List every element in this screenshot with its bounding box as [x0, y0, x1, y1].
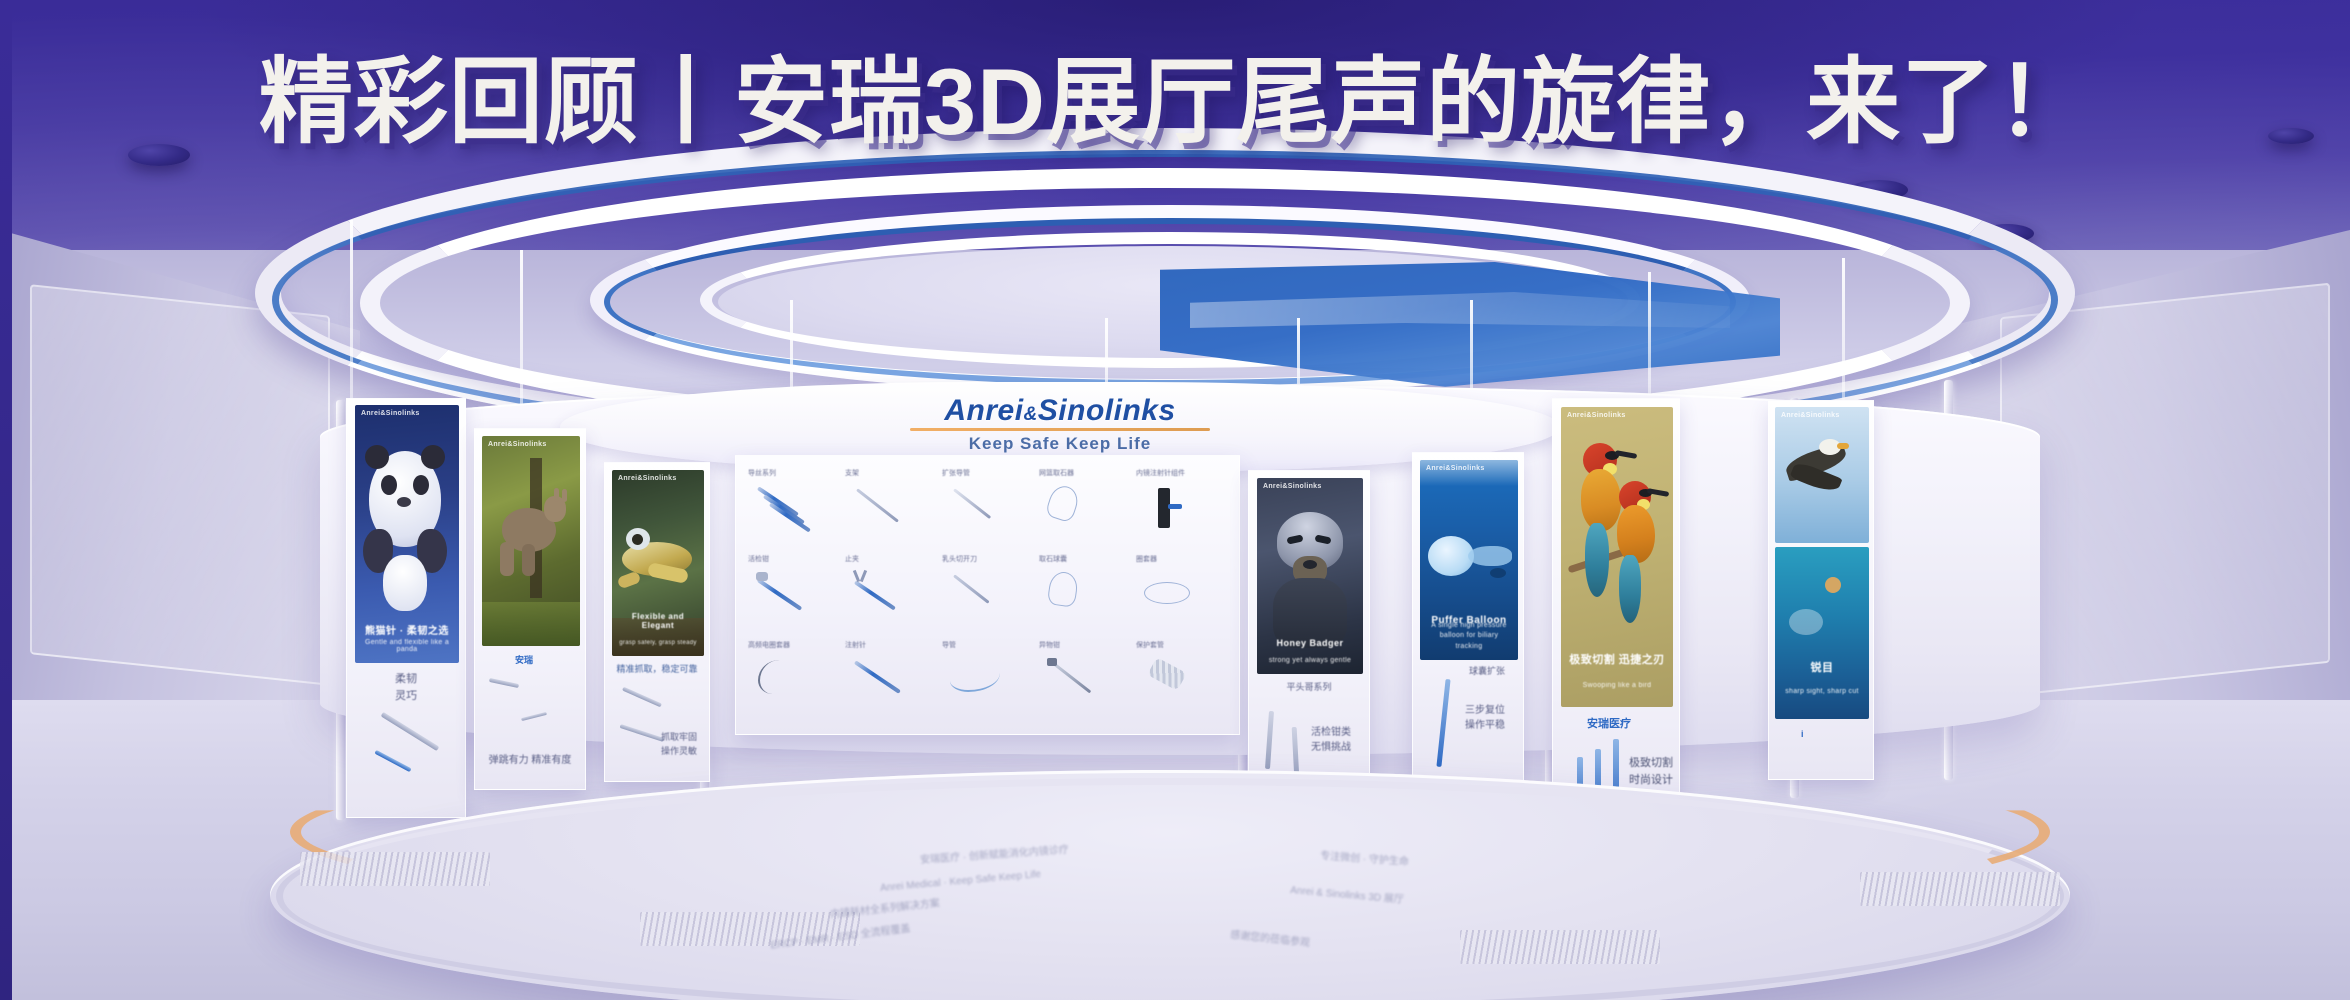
retrieval-balloon-icon: [1045, 568, 1128, 636]
page-title: 精彩回顾丨安瑞3D展厅尾声的旋律，来了！: [0, 26, 2350, 162]
poster-panel-frog[interactable]: Anrei&Sinolinks Flexible and Elegant gra…: [604, 462, 710, 782]
product-cell[interactable]: 止夹: [843, 554, 938, 638]
dilation-catheter-icon: [948, 482, 1031, 550]
platform-grate: [1460, 930, 1660, 964]
poster-honey-badger-image: Anrei&Sinolinks Honey Badger strong yet …: [1257, 478, 1363, 674]
product-label: 活检钳: [748, 554, 769, 564]
poster-panel-puffer[interactable]: Anrei&Sinolinks Puffer Balloon A single …: [1412, 452, 1524, 782]
sheath-icon: [1142, 654, 1225, 722]
panel-caption-secondary: 活检钳类 无惧挑战: [1311, 725, 1365, 755]
product-grid: 导丝系列 支架 扩张导管 网篮取石器 内镜注射针组件 活检钳 止夹 乳头切开刀 …: [746, 468, 1229, 724]
ceiling-spotlight: [1850, 180, 1908, 200]
poster-headline: Honey Badger: [1263, 638, 1357, 648]
poster-brand-stamp: Anrei&Sinolinks: [1567, 412, 1626, 419]
exhibition-hall-banner: Anrei&Sinolinks Keep Safe Keep Life Anre…: [0, 0, 2350, 1000]
panel-brand-mark: 安瑞医疗: [1587, 715, 1631, 731]
product-cell[interactable]: 保护套管: [1134, 640, 1229, 724]
product-cell[interactable]: 导丝系列: [746, 468, 841, 552]
catheter-icon: [948, 654, 1031, 722]
instrument-illustration: [381, 712, 440, 751]
poster-panda-image: Anrei&Sinolinks 熊猫针 · 柔韧之选 Gentle and fl…: [355, 405, 459, 663]
instrument-illustration: [622, 687, 662, 708]
poster-subtitle: A single high pressure balloon for bilia…: [1426, 621, 1512, 653]
panel-caption-secondary: 抓取牢固 操作灵敏: [661, 731, 705, 758]
product-cell[interactable]: 乳头切开刀: [940, 554, 1035, 638]
brand-ampersand: &: [1024, 404, 1038, 425]
product-label: 保护套管: [1136, 640, 1164, 650]
panel-brand-mark: 安瑞: [515, 653, 533, 666]
platform-grate: [1860, 872, 2060, 906]
panel-caption: 弹跳有力 精准有度: [481, 753, 579, 768]
hemostasis-clip-icon: [851, 568, 934, 636]
hanging-rod: [350, 220, 353, 420]
poster-headline: 熊猫针 · 柔韧之选: [361, 622, 453, 637]
poster-panel-bee-eater[interactable]: Anrei&Sinolinks 极致切割 迅捷之刃 Swooping like …: [1552, 398, 1680, 826]
product-label: 内镜注射针组件: [1136, 468, 1185, 478]
panel-caption: 极致切割 时尚设计: [1629, 755, 1675, 788]
brand-name-anrei: Anrei: [944, 394, 1023, 427]
stent-icon: [851, 482, 934, 550]
product-label: 圈套器: [1136, 554, 1157, 564]
needle-icon: [851, 654, 934, 722]
product-cell[interactable]: 网篮取石器: [1037, 468, 1132, 552]
ceiling-spotlight: [1980, 224, 2034, 243]
poster-brand-stamp: Anrei&Sinolinks: [618, 475, 677, 482]
product-label: 高频电圈套器: [748, 640, 790, 650]
panel-caption: 球囊扩张: [1469, 665, 1519, 679]
product-cell[interactable]: 取石球囊: [1037, 554, 1132, 638]
product-label: 支架: [845, 468, 859, 478]
brand-tagline: Keep Safe Keep Life: [560, 434, 1560, 454]
sphincterotome-icon: [948, 568, 1031, 636]
poster-brand-stamp: Anrei&Sinolinks: [1263, 483, 1322, 490]
panel-caption-secondary: 三步复位 操作平稳: [1465, 703, 1519, 733]
product-cell[interactable]: 注射针: [843, 640, 938, 724]
poster-brand-stamp: Anrei&Sinolinks: [1426, 465, 1485, 472]
product-cell[interactable]: 圈套器: [1134, 554, 1229, 638]
poster-panel-panda[interactable]: Anrei&Sinolinks 熊猫针 · 柔韧之选 Gentle and fl…: [346, 398, 466, 818]
poster-puffer-image: Anrei&Sinolinks Puffer Balloon A single …: [1420, 460, 1518, 660]
poster-subtitle: sharp sight, sharp cut: [1781, 688, 1863, 695]
biopsy-forceps-icon: [754, 568, 837, 636]
product-cell[interactable]: 支架: [843, 468, 938, 552]
product-label: 扩张导管: [942, 468, 970, 478]
brand-underline: [910, 428, 1210, 431]
poster-headline: 极致切割 迅捷之刃: [1567, 651, 1667, 667]
panel-caption: 平头哥系列: [1255, 681, 1363, 695]
poster-subtitle: strong yet always gentle: [1263, 657, 1357, 664]
product-cell[interactable]: 扩张导管: [940, 468, 1035, 552]
product-label: 网篮取石器: [1039, 468, 1074, 478]
brand-logo: Anrei&Sinolinks: [560, 394, 1560, 428]
product-cell[interactable]: 异物钳: [1037, 640, 1132, 724]
poster-brand-stamp: Anrei&Sinolinks: [361, 410, 420, 417]
brand-name-sinolinks: Sinolinks: [1038, 394, 1176, 427]
product-label: 取石球囊: [1039, 554, 1067, 564]
poster-headline: 锐目: [1781, 659, 1863, 675]
poster-eagle-image: Anrei&Sinolinks: [1775, 407, 1869, 543]
right-wall-panel: [2000, 283, 2330, 698]
poster-panel-kangaroo[interactable]: Anrei&Sinolinks 安瑞 弹跳有力 精准有度: [474, 428, 586, 790]
guidewire-icon: [754, 482, 837, 550]
product-grid-panel[interactable]: 导丝系列 支架 扩张导管 网篮取石器 内镜注射针组件 活检钳 止夹 乳头切开刀 …: [735, 455, 1240, 735]
poster-frog-image: Anrei&Sinolinks Flexible and Elegant gra…: [612, 470, 704, 656]
poster-subtitle: grasp safely, grasp steady: [618, 640, 698, 646]
product-label: 止夹: [845, 554, 859, 564]
instrument-illustration: [620, 724, 665, 742]
product-label: 导丝系列: [748, 468, 776, 478]
product-cell[interactable]: 高频电圈套器: [746, 640, 841, 724]
instrument-illustration: [374, 750, 411, 772]
hf-snare-icon: [754, 654, 837, 722]
poster-eagle-image-lower: 锐目 sharp sight, sharp cut: [1775, 547, 1869, 719]
hanging-rod: [1842, 258, 1845, 418]
panel-caption: 柔韧 灵巧: [353, 671, 459, 704]
poster-brand-stamp: Anrei&Sinolinks: [1781, 412, 1840, 419]
product-cell[interactable]: 活检钳: [746, 554, 841, 638]
poster-brand-stamp: Anrei&Sinolinks: [488, 441, 547, 448]
product-label: 异物钳: [1039, 640, 1060, 650]
poster-subtitle: Gentle and flexible like a panda: [361, 639, 453, 653]
product-label: 乳头切开刀: [942, 554, 977, 564]
foreign-body-forceps-icon: [1045, 654, 1128, 722]
product-cell[interactable]: 导管: [940, 640, 1035, 724]
instrument-illustration: [1265, 711, 1274, 769]
poster-panel-eagle[interactable]: Anrei&Sinolinks 锐目 sharp sight, sharp cu…: [1768, 400, 1874, 780]
left-wall-panel: [30, 284, 330, 686]
poster-subtitle: Swooping like a bird: [1567, 682, 1667, 689]
instrument-illustration: [489, 678, 519, 688]
poster-kangaroo-image: Anrei&Sinolinks: [482, 436, 580, 646]
injection-needle-icon: [1142, 482, 1225, 550]
snare-icon: [1142, 568, 1225, 636]
panel-brand-mark: i: [1801, 729, 1804, 739]
poster-headline: Flexible and Elegant: [618, 612, 698, 630]
poster-panel-honey-badger[interactable]: Anrei&Sinolinks Honey Badger strong yet …: [1248, 470, 1370, 790]
platform-grate: [300, 852, 490, 886]
panel-caption: 精准抓取，稳定可靠: [611, 663, 703, 677]
instrument-illustration: [521, 712, 547, 721]
instrument-illustration: [1436, 679, 1450, 767]
product-label: 导管: [942, 640, 956, 650]
product-cell[interactable]: 内镜注射针组件: [1134, 468, 1229, 552]
product-label: 注射针: [845, 640, 866, 650]
poster-bee-eater-image: Anrei&Sinolinks 极致切割 迅捷之刃 Swooping like …: [1561, 407, 1673, 707]
stone-basket-icon: [1045, 482, 1128, 550]
